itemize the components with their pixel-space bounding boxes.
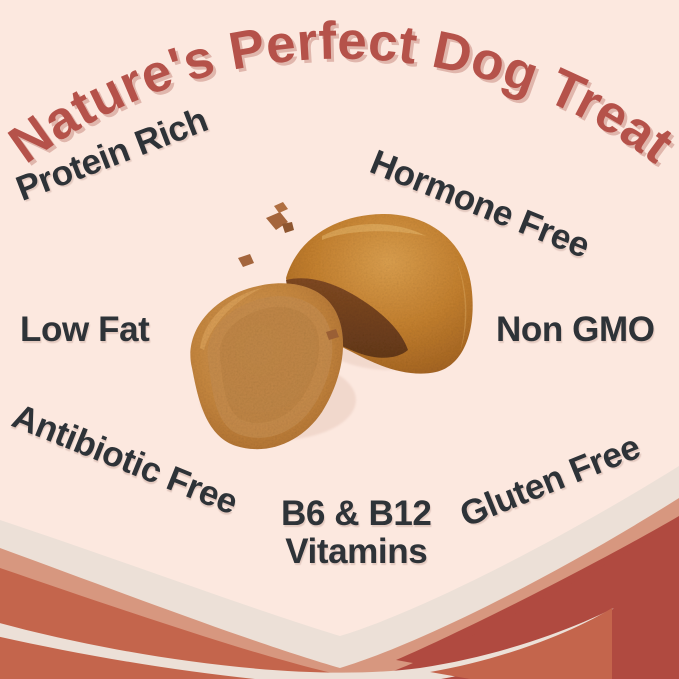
title-container: Nature's Perfect Dog Treat Nature's Perf… bbox=[0, 0, 679, 220]
product-infographic: Nature's Perfect Dog Treat Nature's Perf… bbox=[0, 0, 679, 679]
feature-low-fat: Low Fat bbox=[20, 311, 149, 349]
feature-vitamins-line1: B6 & B12 bbox=[281, 495, 431, 533]
dog-treat-image bbox=[170, 200, 480, 490]
feature-non-gmo: Non GMO bbox=[496, 311, 655, 349]
feature-vitamins-line2: Vitamins bbox=[281, 533, 431, 571]
title-arc-svg: Nature's Perfect Dog Treat Nature's Perf… bbox=[0, 0, 679, 220]
feature-vitamins: B6 & B12 Vitamins bbox=[281, 495, 431, 571]
treat-svg bbox=[170, 200, 480, 490]
